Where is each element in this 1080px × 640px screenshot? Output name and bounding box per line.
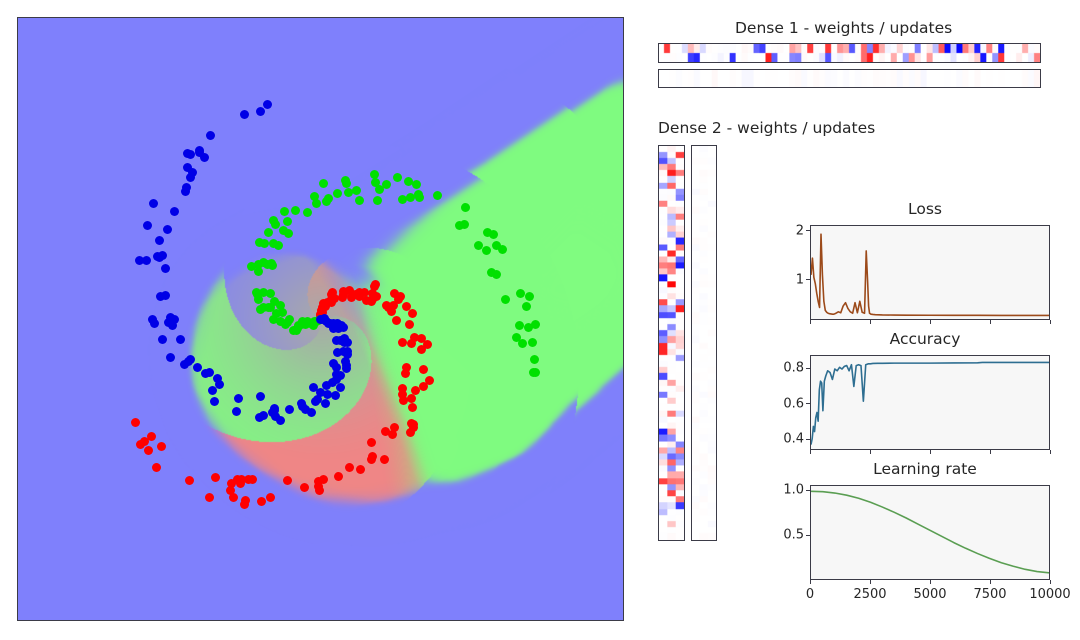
loss-chart-title: Loss xyxy=(770,200,1080,218)
scatter-point xyxy=(531,320,540,329)
scatter-point xyxy=(352,186,361,195)
scatter-point xyxy=(266,493,275,502)
scatter-point xyxy=(283,217,292,226)
decision-boundary-plot xyxy=(17,17,624,621)
scatter-point xyxy=(264,228,273,237)
scatter-point xyxy=(157,442,166,451)
scatter-point xyxy=(247,262,256,271)
scatter-point xyxy=(334,472,343,481)
scatter-point xyxy=(236,479,245,488)
scatter-point xyxy=(419,365,428,374)
x-axis-tick-mark xyxy=(1050,320,1051,324)
accuracy-plot-area xyxy=(810,355,1050,450)
loss-plot-area xyxy=(810,225,1050,320)
scatter-point xyxy=(283,476,292,485)
scatter-point xyxy=(372,292,381,301)
scatter-point xyxy=(412,180,421,189)
scatter-point xyxy=(307,408,316,417)
scatter-point xyxy=(155,236,164,245)
scatter-point xyxy=(396,292,405,301)
scatter-point xyxy=(269,239,278,248)
scatter-point xyxy=(408,403,417,412)
scatter-point xyxy=(136,440,145,449)
scatter-point xyxy=(256,392,265,401)
scatter-point xyxy=(149,199,158,208)
x-axis-tick-mark xyxy=(930,580,931,584)
learning-rate-chart: Learning rate 0.51.0025005000750010000 xyxy=(770,460,1080,620)
scatter-point xyxy=(388,430,397,439)
scatter-point xyxy=(423,340,432,349)
dense2-weights-heatmap xyxy=(658,145,685,541)
x-axis-tick-mark xyxy=(810,580,811,584)
scatter-point xyxy=(425,376,434,385)
y-axis-tick-mark xyxy=(806,490,810,491)
scatter-point xyxy=(433,191,442,200)
scatter-point xyxy=(482,246,491,255)
scatter-point xyxy=(256,107,265,116)
scatter-point xyxy=(201,369,210,378)
x-axis-tick-mark xyxy=(870,580,871,584)
loss-chart: Loss 12 xyxy=(770,200,1080,325)
x-axis-tick-label: 10000 xyxy=(1029,587,1070,602)
scatter-point xyxy=(193,363,202,372)
scatter-point xyxy=(382,180,391,189)
scatter-point xyxy=(257,497,266,506)
y-axis-tick-label: 1 xyxy=(796,272,804,287)
scatter-point xyxy=(256,305,265,314)
x-axis-tick-mark xyxy=(990,320,991,324)
scatter-point xyxy=(460,220,469,229)
scatter-point xyxy=(205,493,214,502)
scatter-point xyxy=(303,208,312,217)
scatter-point xyxy=(339,323,348,332)
scatter-point xyxy=(210,397,219,406)
x-axis-tick-label: 5000 xyxy=(913,587,946,602)
x-axis-tick-mark xyxy=(1050,450,1051,454)
scatter-point xyxy=(356,465,365,474)
scatter-points-layer xyxy=(18,18,623,620)
scatter-point xyxy=(398,338,407,347)
scatter-point xyxy=(522,302,531,311)
scatter-point xyxy=(321,399,330,408)
scatter-point xyxy=(406,428,415,437)
y-axis-tick-mark xyxy=(806,230,810,231)
scatter-point xyxy=(176,335,185,344)
scatter-point xyxy=(401,369,410,378)
scatter-point xyxy=(211,473,220,482)
scatter-point xyxy=(518,339,527,348)
scatter-point xyxy=(489,230,498,239)
dense1-heatmap-title: Dense 1 - weights / updates xyxy=(735,19,952,37)
x-axis-tick-mark xyxy=(990,580,991,584)
scatter-point xyxy=(166,353,175,362)
scatter-point xyxy=(371,280,380,289)
scatter-point xyxy=(492,270,501,279)
learning-rate-plot-area xyxy=(810,485,1050,580)
scatter-point xyxy=(152,463,161,472)
scatter-point xyxy=(255,238,264,247)
scatter-point xyxy=(291,206,300,215)
scatter-point xyxy=(315,486,324,495)
dense1-weights-heatmap xyxy=(658,43,1041,63)
y-axis-tick-label: 0.5 xyxy=(783,528,804,543)
scatter-point xyxy=(148,315,157,324)
scatter-point xyxy=(232,407,241,416)
scatter-point xyxy=(170,207,179,216)
scatter-point xyxy=(135,256,144,265)
scatter-point xyxy=(414,190,423,199)
scatter-point xyxy=(531,368,540,377)
scatter-point xyxy=(367,438,376,447)
scatter-point xyxy=(263,100,272,109)
scatter-point xyxy=(208,386,217,395)
dense1-weights-canvas xyxy=(659,44,1040,62)
x-axis-tick-label: 0 xyxy=(806,587,814,602)
dense2-updates-heatmap xyxy=(691,145,717,541)
scatter-point xyxy=(161,264,170,273)
scatter-point xyxy=(501,295,510,304)
scatter-point xyxy=(206,131,215,140)
scatter-point xyxy=(367,455,376,464)
scatter-point xyxy=(393,173,402,182)
scatter-point xyxy=(234,394,243,403)
scatter-point xyxy=(131,418,140,427)
x-axis-tick-label: 2500 xyxy=(853,587,886,602)
scatter-point xyxy=(229,493,238,502)
scatter-point xyxy=(276,416,285,425)
x-axis-tick-mark xyxy=(870,320,871,324)
scatter-point xyxy=(252,288,261,297)
dense2-updates-canvas xyxy=(692,146,716,540)
scatter-point xyxy=(185,476,194,485)
y-axis-tick-mark xyxy=(806,279,810,280)
scatter-point xyxy=(530,355,539,364)
scatter-point xyxy=(525,292,534,301)
x-axis-tick-label: 7500 xyxy=(973,587,1006,602)
accuracy-line-series xyxy=(811,356,1049,449)
dense2-heatmap-title: Dense 2 - weights / updates xyxy=(658,119,875,137)
y-axis-tick-mark xyxy=(806,368,810,369)
scatter-point xyxy=(371,178,380,187)
scatter-point xyxy=(355,196,364,205)
scatter-point xyxy=(408,309,417,318)
scatter-point xyxy=(407,394,416,403)
scatter-point xyxy=(498,245,507,254)
y-axis-tick-label: 2 xyxy=(796,223,804,238)
scatter-point xyxy=(255,413,264,422)
scatter-point xyxy=(515,321,524,330)
scatter-point xyxy=(405,320,414,329)
scatter-point xyxy=(240,500,249,509)
y-axis-tick-label: 0.6 xyxy=(783,396,804,411)
x-axis-tick-mark xyxy=(930,320,931,324)
y-axis-tick-mark xyxy=(806,403,810,404)
learning-rate-chart-title: Learning rate xyxy=(770,460,1080,478)
scatter-point xyxy=(285,405,294,414)
scatter-point xyxy=(180,360,189,369)
scatter-point xyxy=(164,318,173,327)
dense1-updates-heatmap xyxy=(658,69,1041,88)
scatter-point xyxy=(240,110,249,119)
scatter-point xyxy=(144,446,153,455)
accuracy-chart: Accuracy 0.40.60.8 xyxy=(770,330,1080,455)
scatter-point xyxy=(163,225,172,234)
scatter-point xyxy=(310,192,319,201)
scatter-point xyxy=(331,391,340,400)
y-axis-tick-label: 0.4 xyxy=(783,432,804,447)
scatter-point xyxy=(341,176,350,185)
scatter-point xyxy=(269,315,278,324)
scatter-point xyxy=(153,252,162,261)
loss-line-series xyxy=(811,226,1049,319)
x-axis-tick-mark xyxy=(1050,580,1051,584)
x-axis-tick-mark xyxy=(990,450,991,454)
x-axis-tick-mark xyxy=(810,450,811,454)
y-axis-tick-label: 0.8 xyxy=(783,361,804,376)
x-axis-tick-mark xyxy=(810,320,811,324)
scatter-point xyxy=(269,216,278,225)
scatter-point xyxy=(333,189,342,198)
scatter-point xyxy=(324,194,333,203)
scatter-point xyxy=(380,455,389,464)
scatter-point xyxy=(280,207,289,216)
scatter-point xyxy=(182,183,191,192)
scatter-point xyxy=(143,221,152,230)
scatter-point xyxy=(319,179,328,188)
dense2-weights-canvas xyxy=(659,146,684,540)
scatter-point xyxy=(528,338,537,347)
y-axis-tick-mark xyxy=(806,439,810,440)
scatter-point xyxy=(158,335,167,344)
accuracy-chart-title: Accuracy xyxy=(770,330,1080,348)
scatter-point xyxy=(300,483,309,492)
dense1-updates-canvas xyxy=(659,70,1040,87)
scatter-point xyxy=(343,338,352,347)
scatter-point xyxy=(516,289,525,298)
scatter-point xyxy=(195,146,204,155)
scatter-point xyxy=(311,397,320,406)
scatter-point xyxy=(279,226,288,235)
y-axis-tick-mark xyxy=(806,535,810,536)
x-axis-tick-mark xyxy=(930,450,931,454)
learning-rate-line-series xyxy=(811,486,1049,579)
scatter-point xyxy=(345,463,354,472)
y-axis-tick-label: 1.0 xyxy=(783,483,804,498)
x-axis-tick-mark xyxy=(870,450,871,454)
scatter-point xyxy=(373,196,382,205)
scatter-point xyxy=(392,316,401,325)
scatter-point xyxy=(461,203,470,212)
